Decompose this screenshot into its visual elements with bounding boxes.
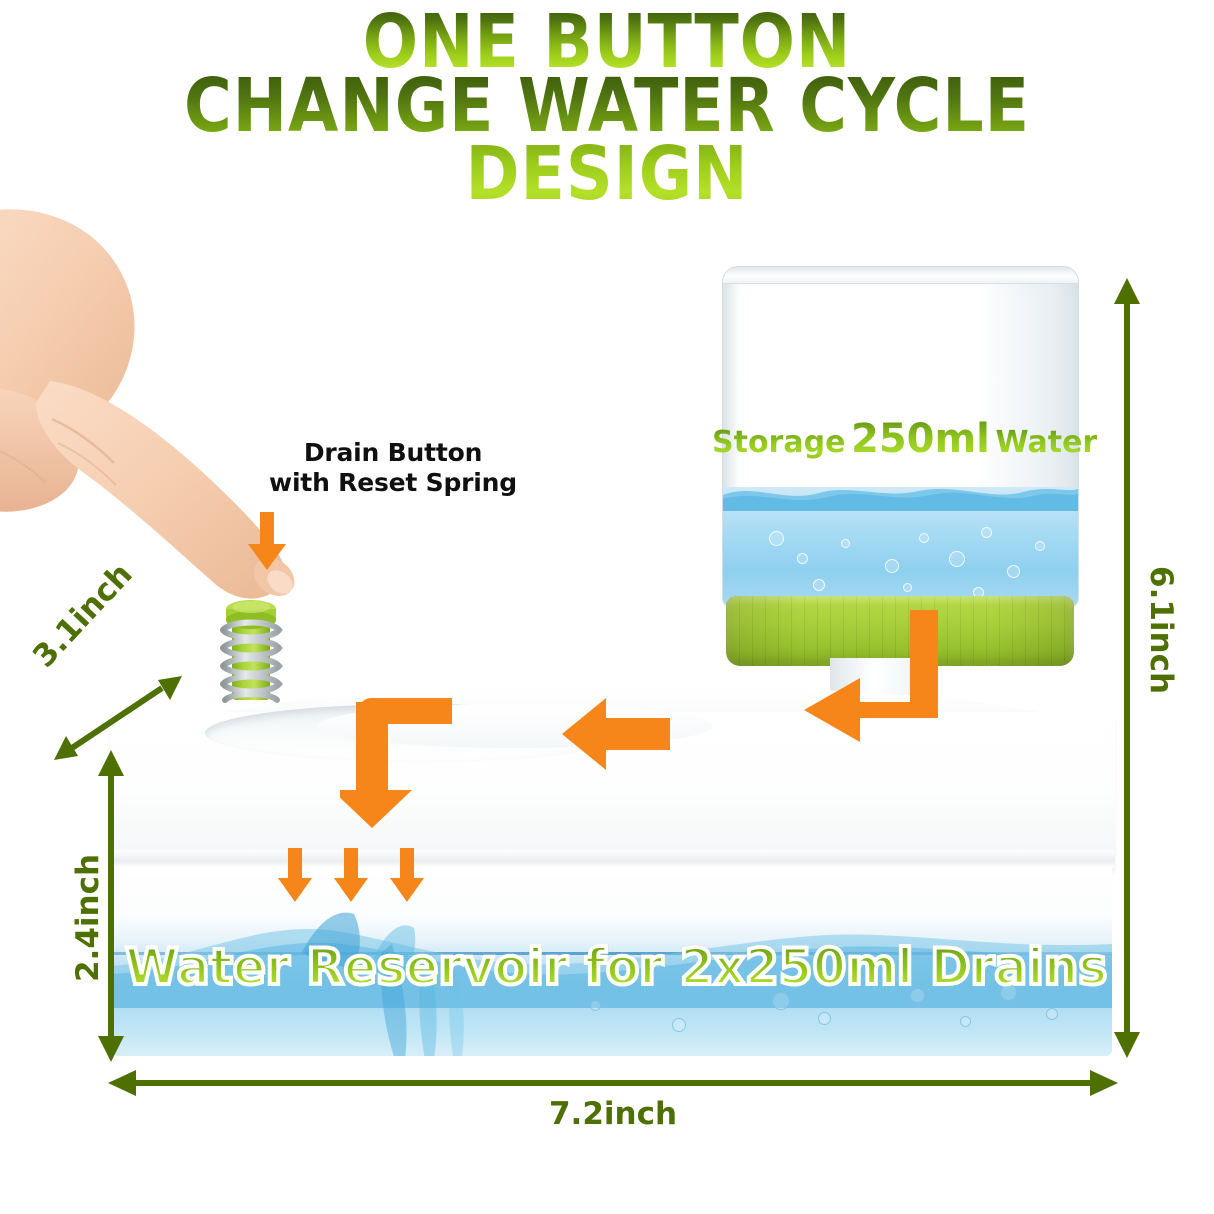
fountain-base-unit: Water Reservoir for 2x250ml Drains (110, 700, 1115, 1060)
storage-capacity-label: Storage 250ml Water (712, 416, 1087, 462)
drain-button-callout-line-2: with Reset Spring (258, 468, 528, 498)
down-arrow-icon (248, 512, 286, 572)
dimension-width: 7.2inch (108, 1068, 1118, 1148)
water-storage-bottle: Storage 250ml Water (712, 266, 1087, 666)
base-lid (110, 712, 1115, 872)
width-double-arrow-icon (108, 1068, 1118, 1098)
bottle-water-level (723, 487, 1078, 607)
dimension-total-height: 6.1inch (1108, 278, 1208, 1058)
bottle-rim (723, 267, 1078, 284)
dimension-total-height-label: 6.1inch (1143, 566, 1179, 686)
bowl-recess (205, 704, 635, 762)
infographic-canvas: ONE BUTTON CHANGE WATER CYCLE DESIGN (0, 0, 1214, 1214)
headline: ONE BUTTON CHANGE WATER CYCLE DESIGN (0, 8, 1214, 208)
collar-shading (726, 596, 1074, 666)
total-height-double-arrow-icon (1112, 278, 1142, 1058)
dimension-width-label: 7.2inch (108, 1096, 1118, 1132)
dimension-depth: 3.1inch (18, 636, 188, 746)
green-collar-cap[interactable] (726, 596, 1074, 666)
reservoir-capacity-label: Water Reservoir for 2x250ml Drains (125, 938, 1100, 996)
reservoir-label-text: Water Reservoir for 2x250ml Drains (125, 938, 1107, 996)
drain-button-callout: Drain Button with Reset Spring (258, 438, 528, 497)
dimension-base-height: 2.4inch (42, 750, 132, 1062)
storage-label-volume: 250ml (851, 416, 990, 462)
headline-line-1: ONE BUTTON (73, 8, 1141, 76)
drain-button-callout-line-1: Drain Button (258, 438, 528, 468)
headline-line-2: CHANGE WATER CYCLE DESIGN (73, 72, 1141, 208)
storage-label-suffix: Water (995, 425, 1097, 460)
bowl-recess-inner (317, 704, 713, 748)
storage-label-prefix: Storage (712, 425, 845, 460)
drain-button-with-spring[interactable] (205, 590, 297, 715)
dimension-base-height-label: 2.4inch (70, 848, 106, 988)
water-wave-icon (723, 477, 1078, 511)
